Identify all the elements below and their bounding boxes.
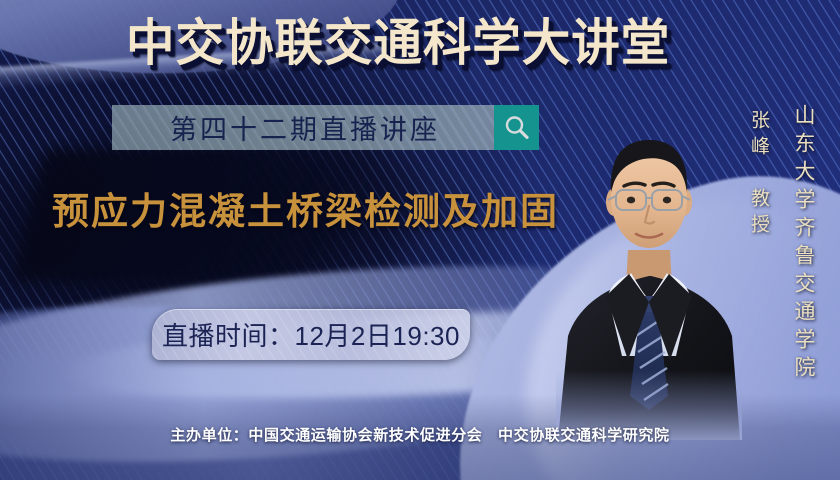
speaker-portrait <box>556 110 742 440</box>
series-label-text: 第四十二期直播讲座 <box>170 108 440 147</box>
broadcast-time-badge: 直播时间：12月2日19:30 <box>152 309 470 360</box>
broadcast-time-text: 直播时间：12月2日19:30 <box>162 316 460 353</box>
lecture-topic: 预应力混凝土桥梁检测及加固 <box>52 193 559 230</box>
live-lecture-poster: 中交协联交通科学大讲堂 第四十二期直播讲座 预应力混凝土桥梁检测及加固 直播时间… <box>0 0 840 480</box>
organizers-line: 主办单位：中国交通运输协会新技术促进分会 中交协联交通科学研究院 <box>0 424 840 445</box>
page-title: 中交协联交通科学大讲堂 <box>126 18 670 68</box>
speaker-name: 张峰 教授 <box>745 110 772 240</box>
series-label-bar: 第四十二期直播讲座 <box>112 105 494 150</box>
speaker-affiliation: 山东大学齐鲁交通学院 <box>788 104 818 384</box>
search-icon[interactable] <box>494 105 539 150</box>
